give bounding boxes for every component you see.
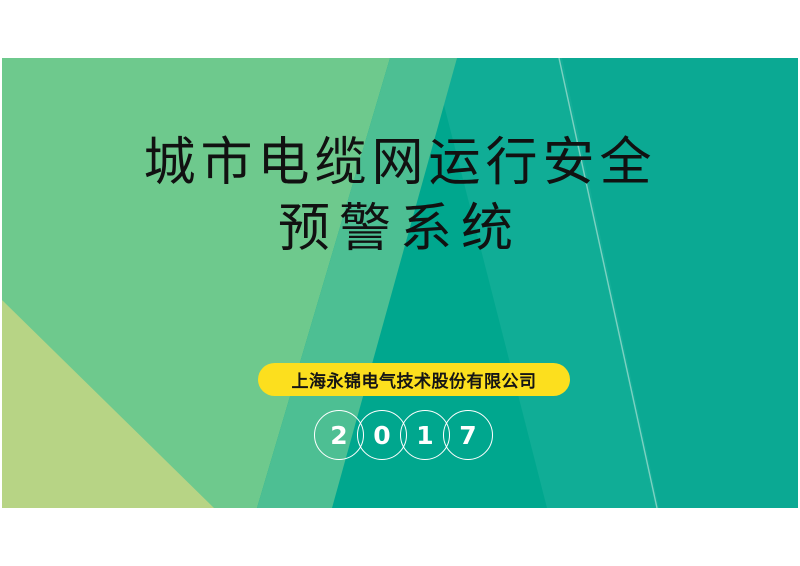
page-title: 城市电缆网运行安全 预警系统 bbox=[2, 130, 798, 262]
company-name-badge: 上海永锦电气技术股份有限公司 bbox=[258, 363, 570, 396]
year-digit-circle: 7 bbox=[443, 410, 493, 460]
company-name-label: 上海永锦电气技术股份有限公司 bbox=[292, 367, 537, 392]
slide-root: 城市电缆网运行安全 预警系统 上海永锦电气技术股份有限公司 2 0 1 7 bbox=[0, 0, 800, 566]
cover-artboard: 城市电缆网运行安全 预警系统 上海永锦电气技术股份有限公司 2 0 1 7 bbox=[2, 58, 798, 508]
title-line-1: 城市电缆网运行安全 bbox=[2, 130, 798, 196]
title-line-2: 预警系统 bbox=[2, 196, 798, 262]
